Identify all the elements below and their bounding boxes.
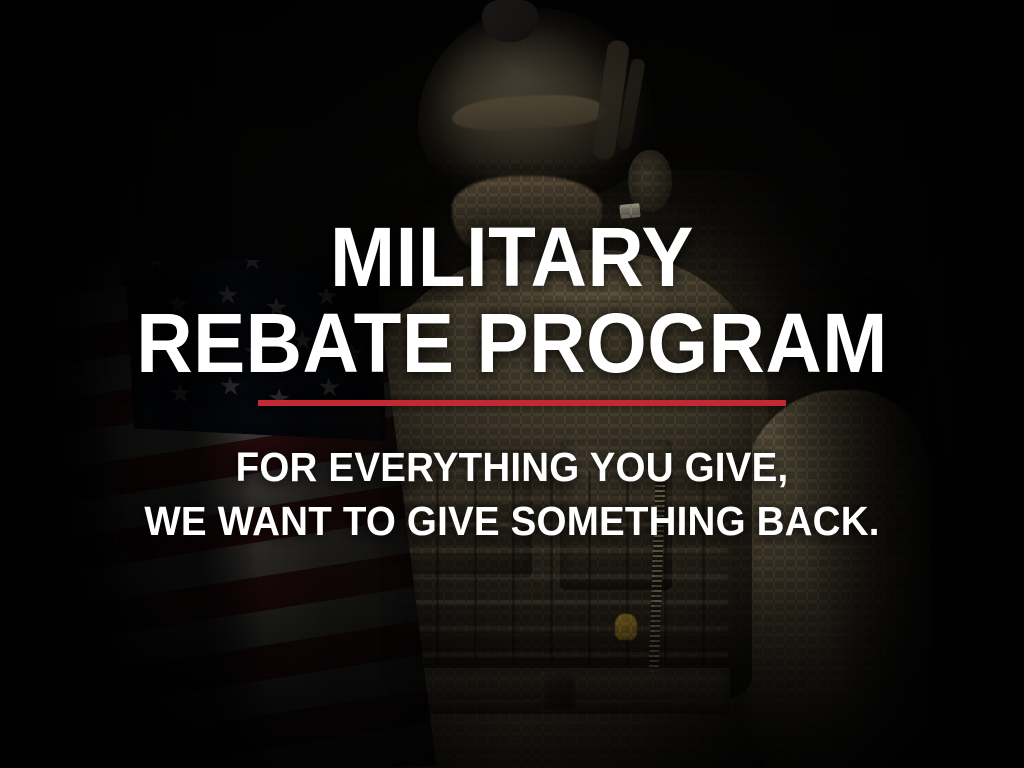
headline-line-1: MILITARY <box>36 216 988 298</box>
subheadline-line-1: FOR EVERYTHING YOU GIVE, <box>31 444 994 491</box>
red-divider-rule <box>258 400 786 406</box>
poster-canvas: MILITARY REBATE PROGRAM FOR EVERYTHING Y… <box>0 0 1024 768</box>
text-overlay: MILITARY REBATE PROGRAM FOR EVERYTHING Y… <box>0 0 1024 768</box>
headline-line-2: REBATE PROGRAM <box>36 302 988 384</box>
subheadline-line-2: WE WANT TO GIVE SOMETHING BACK. <box>31 498 994 545</box>
